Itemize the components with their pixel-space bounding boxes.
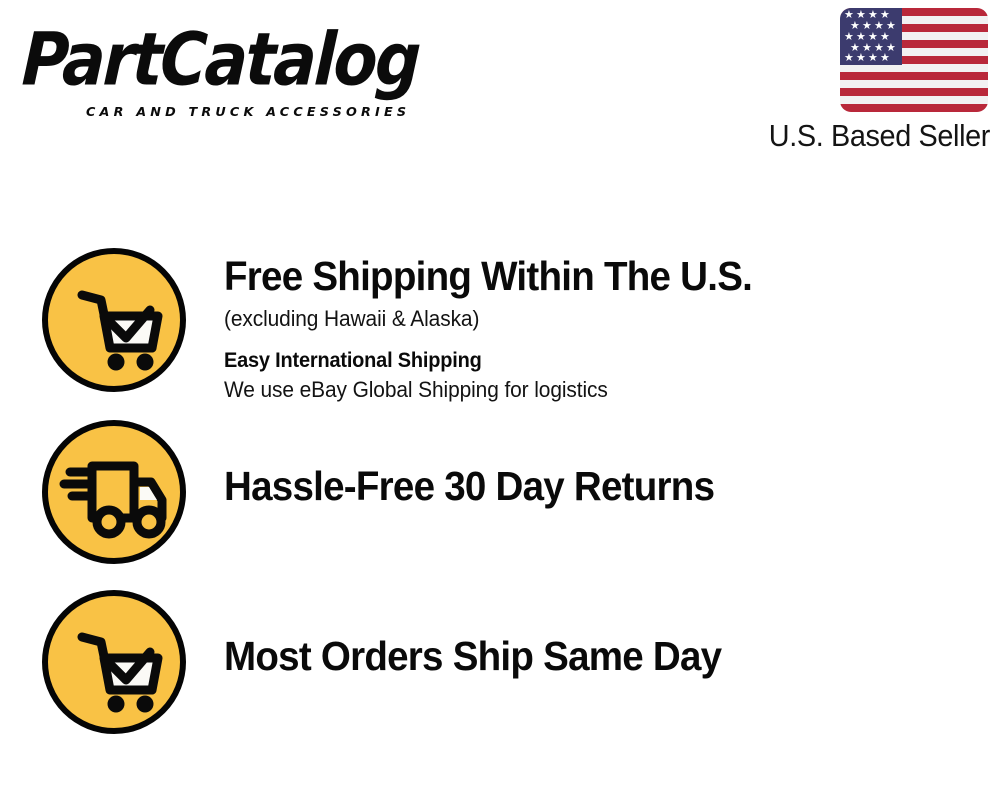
flag-star: ★ <box>868 53 878 64</box>
feature-sub-note: We use eBay Global Shipping for logistic… <box>224 375 758 405</box>
flag-star: ★ <box>880 53 890 64</box>
feature-text-block: Free Shipping Within The U.S. (excluding… <box>224 248 786 405</box>
feature-subtitle: (excluding Hawaii & Alaska) <box>224 304 758 334</box>
feature-row: Hassle-Free 30 Day Returns <box>42 420 746 564</box>
flag-star: ★ <box>856 53 866 64</box>
feature-row: Most Orders Ship Same Day <box>42 590 753 734</box>
delivery-truck-icon <box>42 420 186 564</box>
brand-wordmark: PartCatalog <box>20 22 494 100</box>
flag-canton: ★ ★ ★ ★ ★ ★ ★ ★ ★ ★ ★ ★ ★ ★ ★ ★ ★ ★ ★ ★ <box>840 8 902 65</box>
feature-text-block: Most Orders Ship Same Day <box>224 590 753 680</box>
feature-title: Most Orders Ship Same Day <box>224 632 721 680</box>
shopping-cart-check-icon <box>42 590 186 734</box>
us-based-seller-block: ★ ★ ★ ★ ★ ★ ★ ★ ★ ★ ★ ★ ★ ★ ★ ★ ★ ★ ★ ★ <box>720 8 990 153</box>
brand-logo: PartCatalog CAR AND TRUCK ACCESSORIES <box>24 22 494 117</box>
shopping-cart-check-icon <box>42 248 186 392</box>
feature-sub-heading: Easy International Shipping <box>224 347 758 375</box>
feature-row: Free Shipping Within The U.S. (excluding… <box>42 248 786 405</box>
feature-text-block: Hassle-Free 30 Day Returns <box>224 420 746 510</box>
us-flag-icon: ★ ★ ★ ★ ★ ★ ★ ★ ★ ★ ★ ★ ★ ★ ★ ★ ★ ★ ★ ★ <box>840 8 988 112</box>
feature-list: Free Shipping Within The U.S. (excluding… <box>0 170 1000 800</box>
feature-title: Hassle-Free 30 Day Returns <box>224 462 714 510</box>
feature-title: Free Shipping Within The U.S. <box>224 252 752 300</box>
us-based-seller-label: U.S. Based Seller <box>739 119 990 153</box>
flag-star: ★ <box>844 53 854 64</box>
brand-tagline: CAR AND TRUCK ACCESSORIES <box>86 104 410 119</box>
page-header: PartCatalog CAR AND TRUCK ACCESSORIES ★ … <box>0 0 1000 170</box>
